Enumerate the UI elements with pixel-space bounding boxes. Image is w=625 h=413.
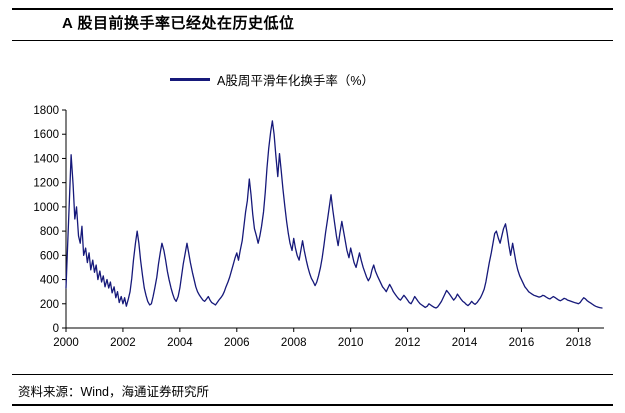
y-tick-label: 1200 (33, 178, 59, 190)
x-tick-label: 2000 (53, 337, 79, 349)
x-tick-label: 2010 (338, 337, 364, 349)
x-tick-label: 2012 (395, 337, 421, 349)
plot-area: 0200400600800100012001400160018002000200… (12, 96, 613, 368)
x-tick-label: 2006 (224, 337, 250, 349)
x-tick-label: 2014 (452, 337, 478, 349)
y-tick-label: 800 (40, 226, 59, 238)
chart-page: A 股目前换手率已经处在历史低位 A股周平滑年化换手率（%） 020040060… (0, 0, 625, 413)
title-bottom-divider (12, 40, 613, 41)
x-tick-label: 2018 (566, 337, 592, 349)
legend-swatch-series-1 (170, 78, 210, 81)
x-tick-label: 2002 (110, 337, 136, 349)
source-note: 资料来源：Wind，海通证券研究所 (18, 382, 578, 402)
y-tick-label: 1400 (33, 153, 59, 165)
axes (62, 110, 604, 332)
y-tick-label: 400 (40, 275, 59, 287)
x-tick-label: 2008 (281, 337, 307, 349)
title-top-divider (12, 8, 613, 10)
y-tick-label: 0 (53, 323, 59, 335)
footer-top-divider (12, 374, 613, 375)
y-tick-label: 600 (40, 250, 59, 262)
x-tick-label: 2004 (167, 337, 193, 349)
axis-tick-labels: 0200400600800100012001400160018002000200… (33, 105, 591, 349)
series-line-1 (66, 121, 602, 308)
page-title: A 股目前换手率已经处在历史低位 (62, 12, 582, 36)
x-tick-label: 2016 (509, 337, 535, 349)
y-tick-label: 200 (40, 299, 59, 311)
chart-legend: A股周平滑年化换手率（%） (170, 69, 374, 89)
series-lines (66, 121, 602, 308)
line-chart-svg: 0200400600800100012001400160018002000200… (12, 96, 613, 368)
y-tick-label: 1600 (33, 129, 59, 141)
legend-label-series-1: A股周平滑年化换手率（%） (217, 70, 374, 89)
y-tick-label: 1800 (33, 105, 59, 117)
y-tick-label: 1000 (33, 202, 59, 214)
footer-bottom-divider (12, 404, 613, 406)
